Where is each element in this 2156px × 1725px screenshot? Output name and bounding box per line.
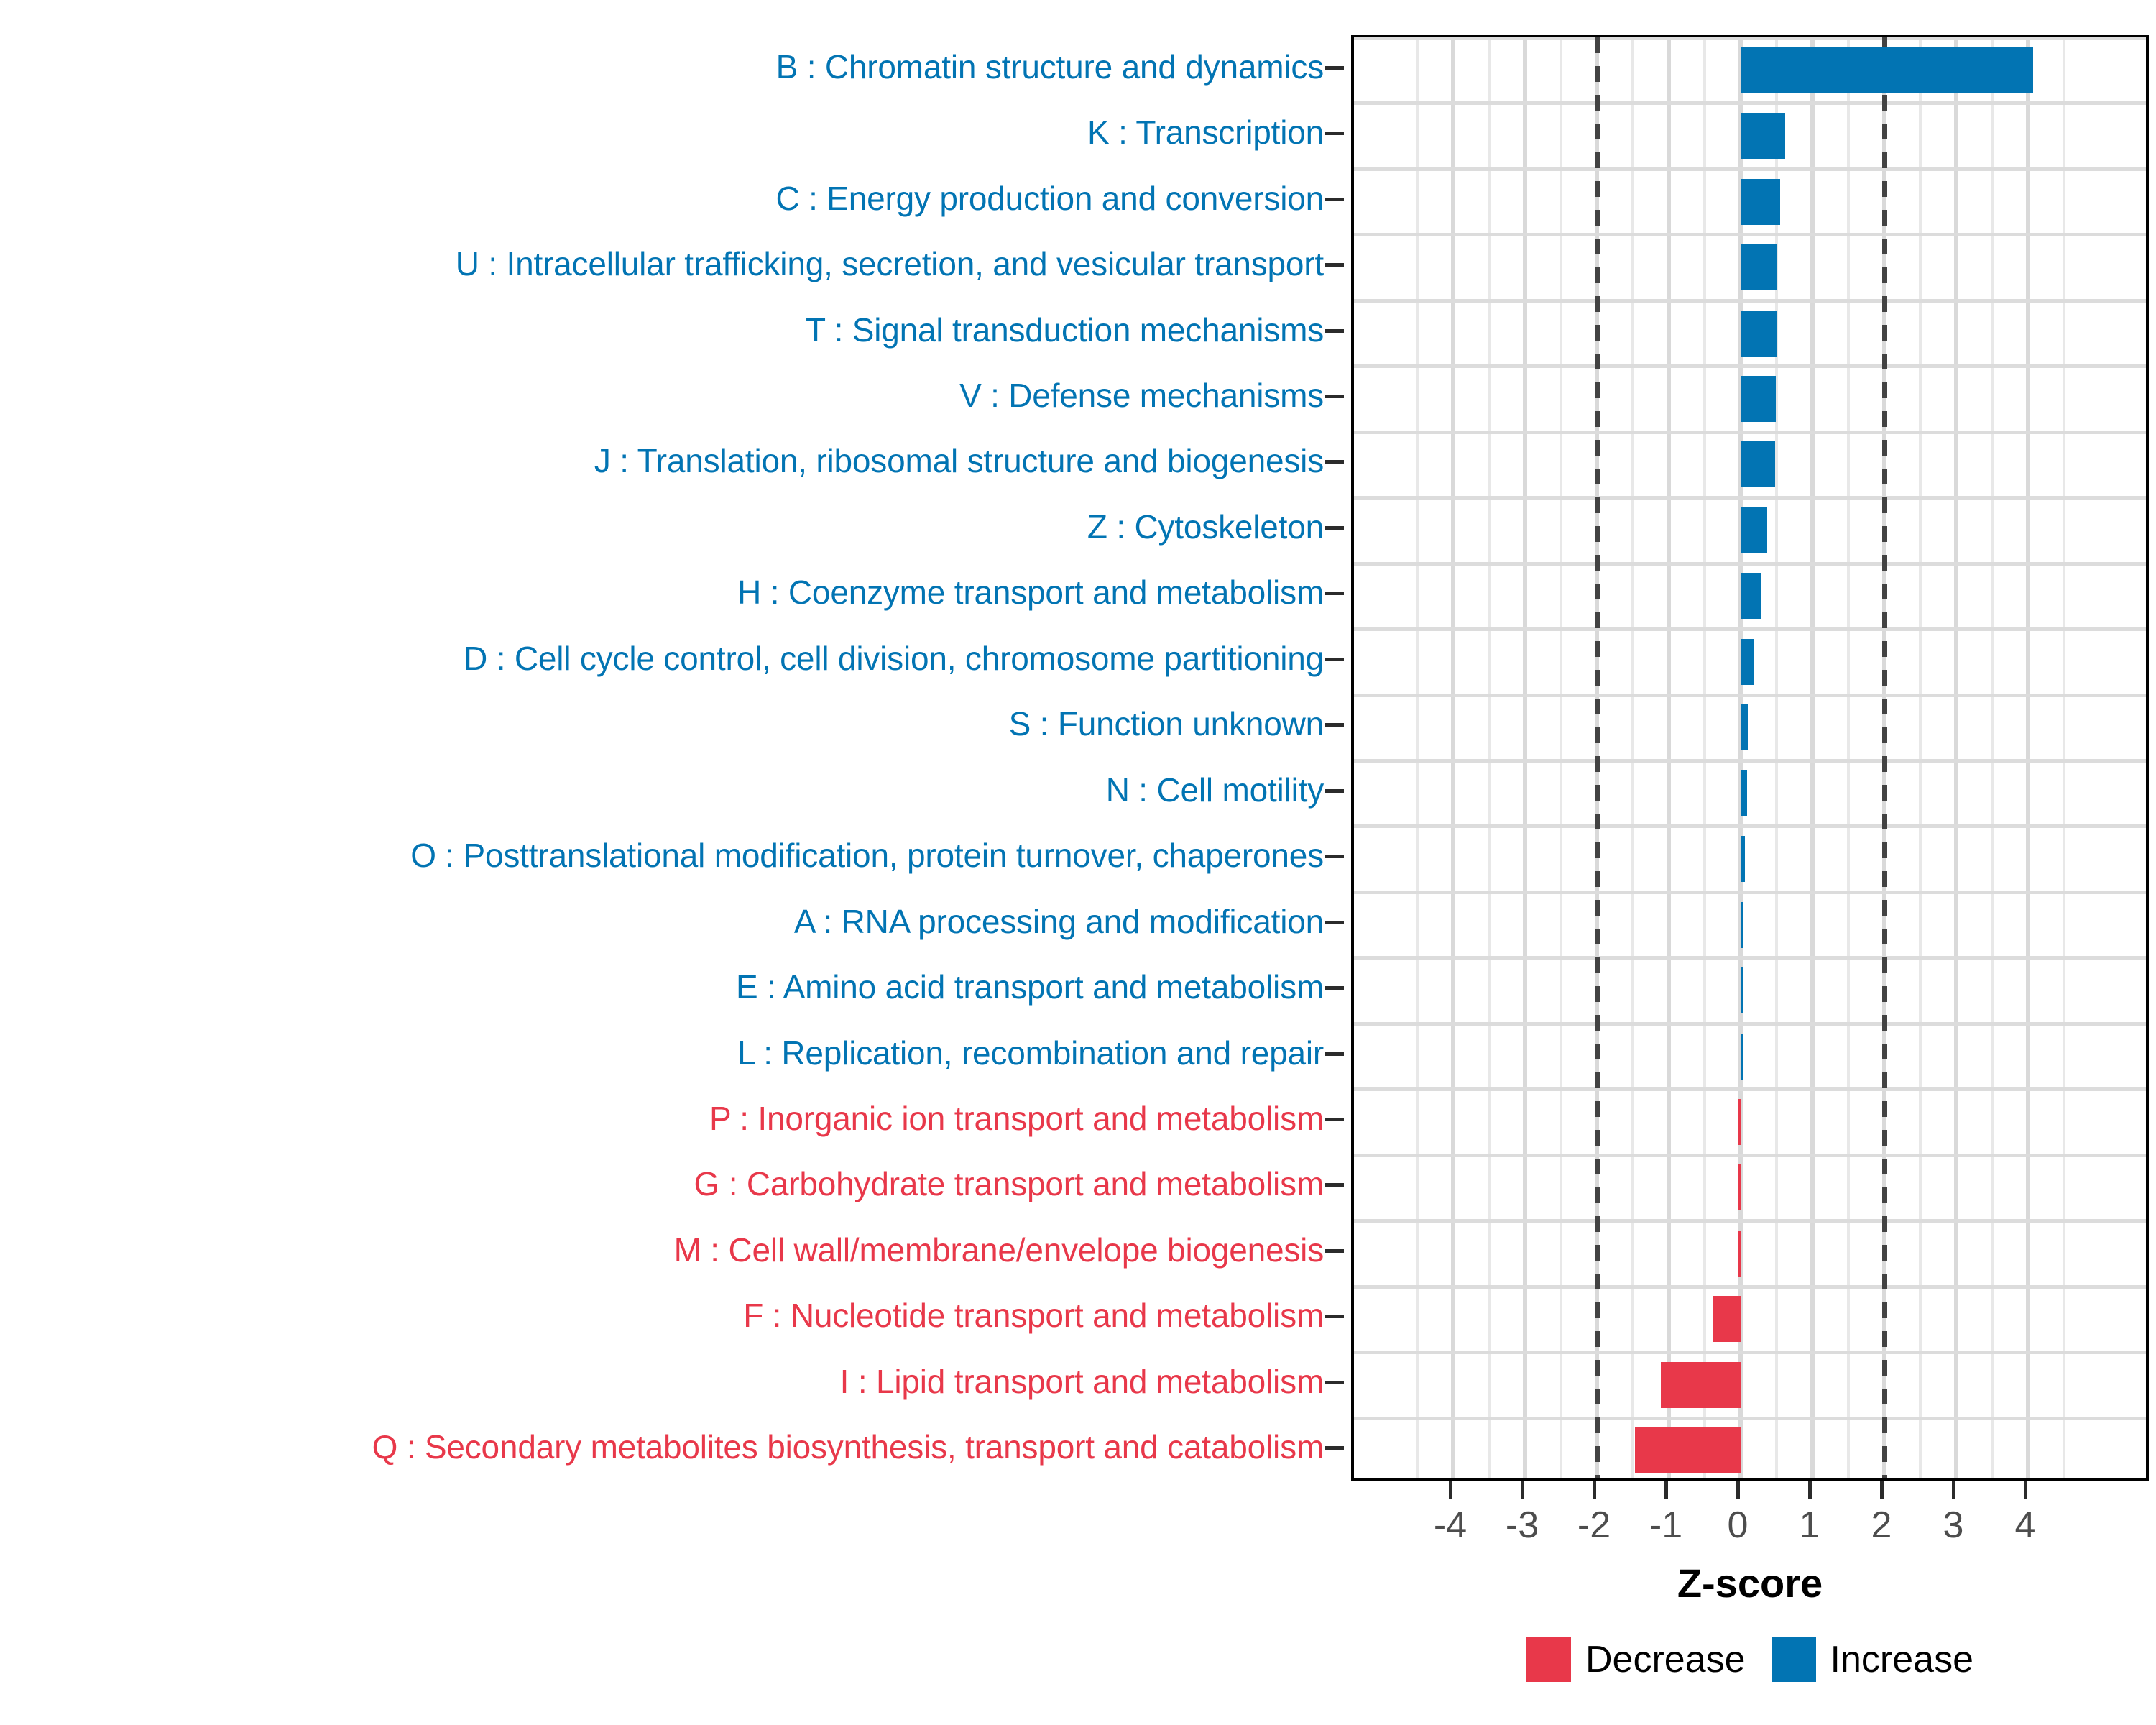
- gridline-major-vertical: [1954, 37, 1958, 1478]
- x-axis-tick: [1736, 1481, 1740, 1499]
- gridline-horizontal: [1354, 1285, 2146, 1289]
- x-axis-tick-label: 4: [1982, 1504, 2068, 1547]
- y-axis-category-label: A : RNA processing and modification: [794, 905, 1324, 938]
- y-axis-tick: [1325, 658, 1344, 661]
- gridline-horizontal: [1354, 431, 2146, 434]
- y-axis-tick: [1325, 66, 1344, 70]
- bar: [1661, 1362, 1741, 1408]
- y-axis-labels: B : Chromatin structure and dynamicsK : …: [0, 34, 1324, 1481]
- y-axis-category-label: C : Energy production and conversion: [776, 182, 1324, 215]
- y-axis-tick: [1325, 1183, 1344, 1187]
- gridline-horizontal: [1354, 694, 2146, 697]
- y-axis-tick: [1325, 263, 1344, 267]
- gridline-minor-vertical: [1703, 37, 1706, 1478]
- y-axis-category-label: N : Cell motility: [1106, 773, 1324, 806]
- bar: [1741, 902, 1743, 948]
- gridline-horizontal: [1354, 1219, 2146, 1223]
- y-axis-tick: [1325, 1381, 1344, 1384]
- gridline-horizontal: [1354, 627, 2146, 631]
- plot-panel: [1351, 34, 2149, 1481]
- y-axis-tick: [1325, 1315, 1344, 1318]
- x-axis-title: Z-score: [1351, 1560, 2149, 1606]
- bar: [1741, 639, 1754, 685]
- x-axis-tick: [1880, 1481, 1884, 1499]
- gridline-major-vertical: [2026, 37, 2030, 1478]
- y-axis-category-label: D : Cell cycle control, cell division, c…: [464, 642, 1324, 675]
- gridline-horizontal: [1354, 101, 2146, 105]
- gridline-horizontal: [1354, 233, 2146, 236]
- y-axis-tick: [1325, 198, 1344, 201]
- gridline-minor-vertical: [1560, 37, 1562, 1478]
- gridline-minor-vertical: [1416, 37, 1419, 1478]
- x-axis-tick: [1664, 1481, 1668, 1499]
- x-axis-tick: [1449, 1481, 1452, 1499]
- bar: [1741, 47, 2033, 93]
- gridline-horizontal: [1354, 891, 2146, 894]
- y-axis-category-label: O : Posttranslational modification, prot…: [410, 839, 1324, 872]
- gridline-horizontal: [1354, 562, 2146, 566]
- reference-line-dashed: [1882, 37, 1887, 1478]
- bar: [1741, 704, 1748, 750]
- bar: [1738, 1099, 1741, 1145]
- y-axis-category-label: U : Intracellular trafficking, secretion…: [456, 247, 1324, 280]
- bar: [1741, 967, 1743, 1013]
- y-axis-category-label: S : Function unknown: [1009, 707, 1324, 740]
- y-axis-category-label: I : Lipid transport and metabolism: [840, 1365, 1324, 1398]
- y-axis-tick: [1325, 395, 1344, 398]
- y-axis-tick: [1325, 921, 1344, 924]
- x-axis-tick: [2024, 1481, 2027, 1499]
- y-axis-category-label: K : Transcription: [1087, 116, 1324, 149]
- gridline-horizontal: [1354, 1417, 2146, 1420]
- bar: [1738, 1230, 1741, 1276]
- bar: [1741, 113, 1785, 159]
- y-axis-tick: [1325, 1118, 1344, 1121]
- x-axis-tick: [1521, 1481, 1524, 1499]
- bar: [1741, 770, 1747, 816]
- gridline-major-vertical: [1451, 37, 1455, 1478]
- y-axis-category-label: L : Replication, recombination and repai…: [737, 1036, 1324, 1069]
- y-axis-category-label: V : Defense mechanisms: [959, 379, 1324, 412]
- bar: [1713, 1296, 1741, 1342]
- gridline-horizontal: [1354, 364, 2146, 368]
- y-axis-category-label: M : Cell wall/membrane/envelope biogenes…: [674, 1233, 1324, 1266]
- x-axis-tick: [1593, 1481, 1596, 1499]
- y-axis-category-label: Q : Secondary metabolites biosynthesis, …: [372, 1430, 1324, 1463]
- bar: [1741, 507, 1767, 553]
- gridline-horizontal: [1354, 1087, 2146, 1091]
- bar: [1741, 376, 1776, 422]
- y-axis-tick: [1325, 132, 1344, 135]
- legend-label: Increase: [1830, 1638, 1973, 1681]
- bar: [1741, 573, 1761, 619]
- y-axis-tick: [1325, 855, 1344, 858]
- y-axis-category-label: H : Coenzyme transport and metabolism: [737, 576, 1324, 609]
- gridline-horizontal: [1354, 1022, 2146, 1026]
- y-axis-tick: [1325, 723, 1344, 727]
- y-axis-tick: [1325, 986, 1344, 990]
- x-axis-tick: [1952, 1481, 1955, 1499]
- gridline-minor-vertical: [1631, 37, 1634, 1478]
- y-axis-category-label: E : Amino acid transport and metabolism: [736, 970, 1324, 1003]
- y-axis-tick: [1325, 592, 1344, 595]
- gridline-horizontal: [1354, 36, 2146, 40]
- y-axis-category-label: F : Nucleotide transport and metabolism: [743, 1299, 1324, 1332]
- gridline-horizontal: [1354, 167, 2146, 171]
- bar: [1635, 1427, 1741, 1473]
- gridline-horizontal: [1354, 1351, 2146, 1354]
- legend-entry: Decrease: [1526, 1637, 1746, 1682]
- y-axis-tick: [1325, 1249, 1344, 1253]
- gridline-minor-vertical: [1991, 37, 1994, 1478]
- gridline-horizontal: [1354, 956, 2146, 960]
- legend-color-swatch: [1526, 1637, 1571, 1682]
- y-axis-tick: [1325, 460, 1344, 464]
- y-axis-tick: [1325, 1446, 1344, 1450]
- cog-functional-category-zscore-chart: B : Chromatin structure and dynamicsK : …: [0, 0, 2156, 1725]
- bar: [1741, 244, 1777, 290]
- legend-label: Decrease: [1585, 1638, 1746, 1681]
- y-axis-category-label: P : Inorganic ion transport and metaboli…: [709, 1102, 1324, 1135]
- gridline-major-vertical: [1667, 37, 1671, 1478]
- legend: DecreaseIncrease: [1351, 1637, 2149, 1682]
- gridline-major-vertical: [1523, 37, 1527, 1478]
- bar: [1738, 1164, 1741, 1210]
- legend-entry: Increase: [1772, 1637, 1973, 1682]
- gridline-minor-vertical: [1919, 37, 1922, 1478]
- y-axis-category-label: B : Chromatin structure and dynamics: [776, 50, 1324, 83]
- y-axis-category-label: G : Carbohydrate transport and metabolis…: [694, 1167, 1324, 1200]
- y-axis-tick: [1325, 789, 1344, 793]
- legend-color-swatch: [1772, 1637, 1816, 1682]
- bar: [1741, 441, 1775, 487]
- gridline-horizontal: [1354, 1154, 2146, 1157]
- y-axis-category-label: J : Translation, ribosomal structure and…: [594, 444, 1324, 477]
- bar: [1741, 1034, 1743, 1080]
- y-axis-tick: [1325, 1052, 1344, 1056]
- gridline-minor-vertical: [1488, 37, 1491, 1478]
- gridline-horizontal: [1354, 759, 2146, 763]
- gridline-minor-vertical: [1847, 37, 1850, 1478]
- y-axis-tick: [1325, 526, 1344, 530]
- gridline-horizontal: [1354, 299, 2146, 303]
- gridline-minor-vertical: [2063, 37, 2065, 1478]
- reference-line-dashed: [1595, 37, 1600, 1478]
- gridline-horizontal: [1354, 496, 2146, 500]
- gridline-major-vertical: [1810, 37, 1815, 1478]
- gridline-horizontal: [1354, 824, 2146, 828]
- y-axis-tick: [1325, 329, 1344, 333]
- x-axis-tick: [1808, 1481, 1812, 1499]
- bar: [1741, 836, 1745, 882]
- bar: [1741, 310, 1777, 356]
- bar: [1741, 179, 1780, 225]
- y-axis-category-label: Z : Cytoskeleton: [1087, 510, 1324, 543]
- y-axis-category-label: T : Signal transduction mechanisms: [806, 313, 1324, 346]
